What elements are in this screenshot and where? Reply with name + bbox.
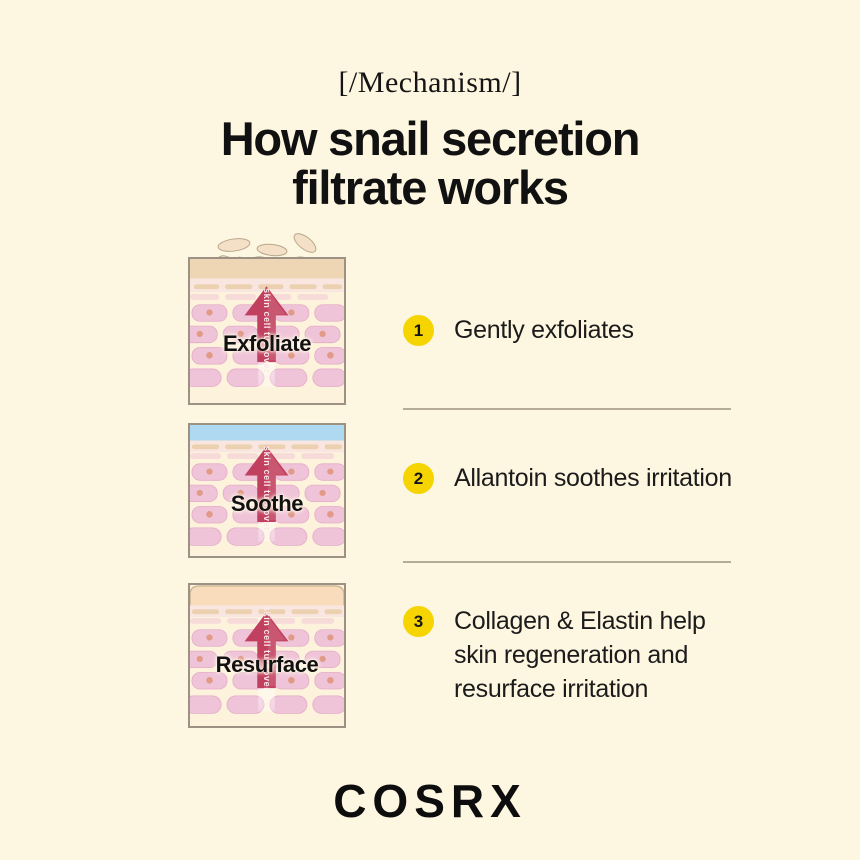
eyebrow-label: [/Mechanism/]: [0, 66, 860, 100]
illustration-panel-soothe: [188, 423, 346, 558]
step-item-3: 3 Collagen & Elastin help skin regenerat…: [403, 604, 743, 706]
headline-line-2: filtrate works: [0, 163, 860, 212]
step-text-2: Allantoin soothes irritation: [454, 461, 732, 495]
step-divider-1: [403, 408, 731, 410]
step-divider-2: [403, 561, 731, 563]
step-text-3: Collagen & Elastin help skin regeneratio…: [454, 604, 743, 706]
step-number-badge-3: 3: [403, 606, 434, 637]
infographic-poster: [/Mechanism/] How snail secretion filtra…: [0, 0, 860, 860]
headline-line-1: How snail secretion: [0, 114, 860, 163]
illustration-panel-exfoliate: [188, 257, 346, 405]
skin-cross-section-resurface: [190, 585, 344, 726]
page-title: How snail secretion filtrate works: [0, 114, 860, 212]
brand-logo: COSRX: [0, 774, 860, 828]
skin-cross-section-soothe: [190, 425, 344, 556]
step-item-2: 2 Allantoin soothes irritation: [403, 461, 743, 495]
step-text-1: Gently exfoliates: [454, 313, 634, 347]
step-number-badge-1: 1: [403, 315, 434, 346]
step-item-1: 1 Gently exfoliates: [403, 313, 743, 347]
skin-cross-section-exfoliate: [190, 259, 344, 403]
surface-band-blue: [190, 425, 344, 441]
surface-band-peach: [190, 586, 344, 606]
step-number-badge-2: 2: [403, 463, 434, 494]
illustration-panel-resurface: [188, 583, 346, 728]
